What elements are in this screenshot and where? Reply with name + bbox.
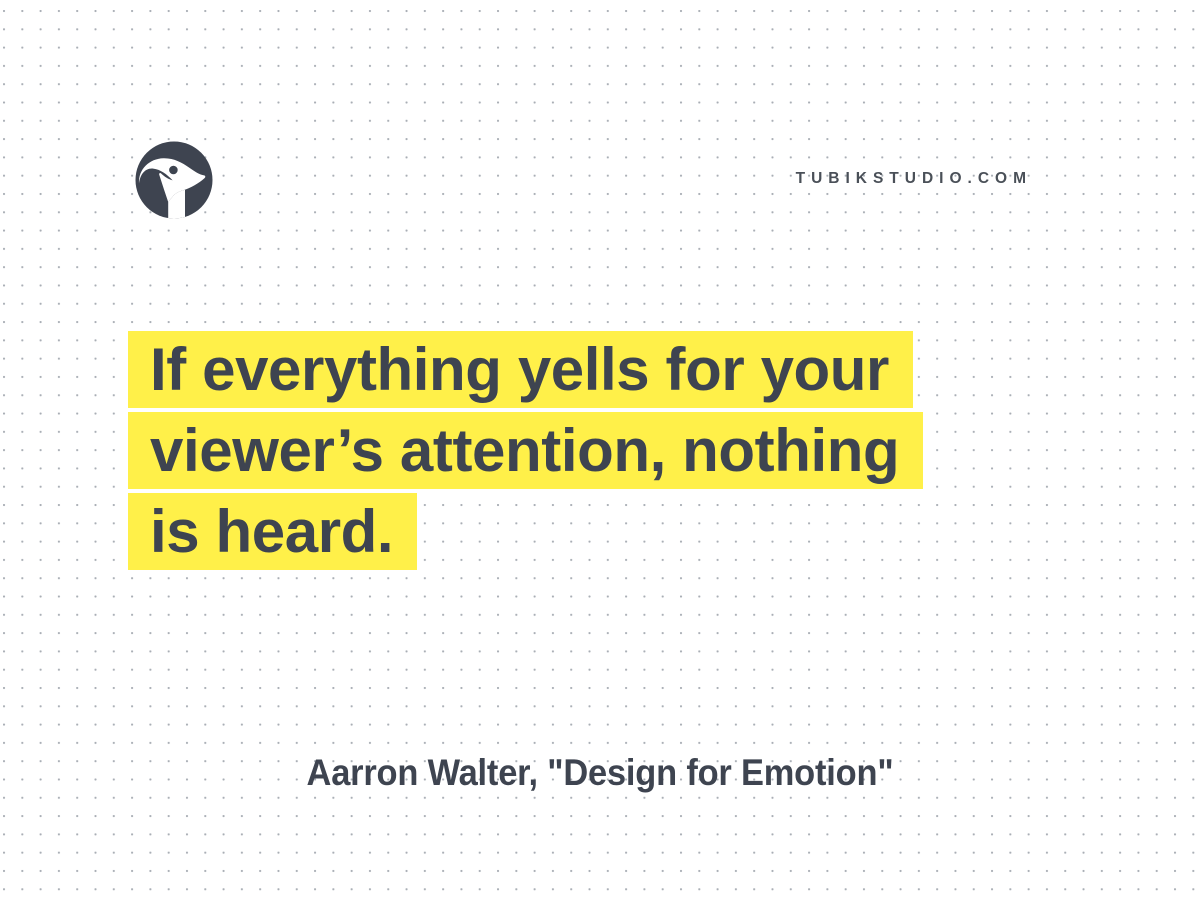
quote-line-text: viewer’s attention, nothing xyxy=(128,412,923,489)
tubik-studio-logo xyxy=(135,141,215,221)
quote-line-text: is heard. xyxy=(128,493,417,570)
quote-line: viewer’s attention, nothing xyxy=(128,412,1128,489)
dog-head-logo-icon xyxy=(135,141,215,221)
quote-poster: TUBIKSTUDIO.COM If everything yells for … xyxy=(0,0,1200,900)
quote-line: If everything yells for your xyxy=(128,331,1128,408)
quote-attribution: Aarron Walter, "Design for Emotion" xyxy=(42,752,1158,794)
quote-line: is heard. xyxy=(128,493,1128,570)
quote-line-text: If everything yells for your xyxy=(128,331,913,408)
brand-url-label: TUBIKSTUDIO.COM xyxy=(796,170,1032,188)
quote-block: If everything yells for your viewer’s at… xyxy=(128,331,1128,570)
